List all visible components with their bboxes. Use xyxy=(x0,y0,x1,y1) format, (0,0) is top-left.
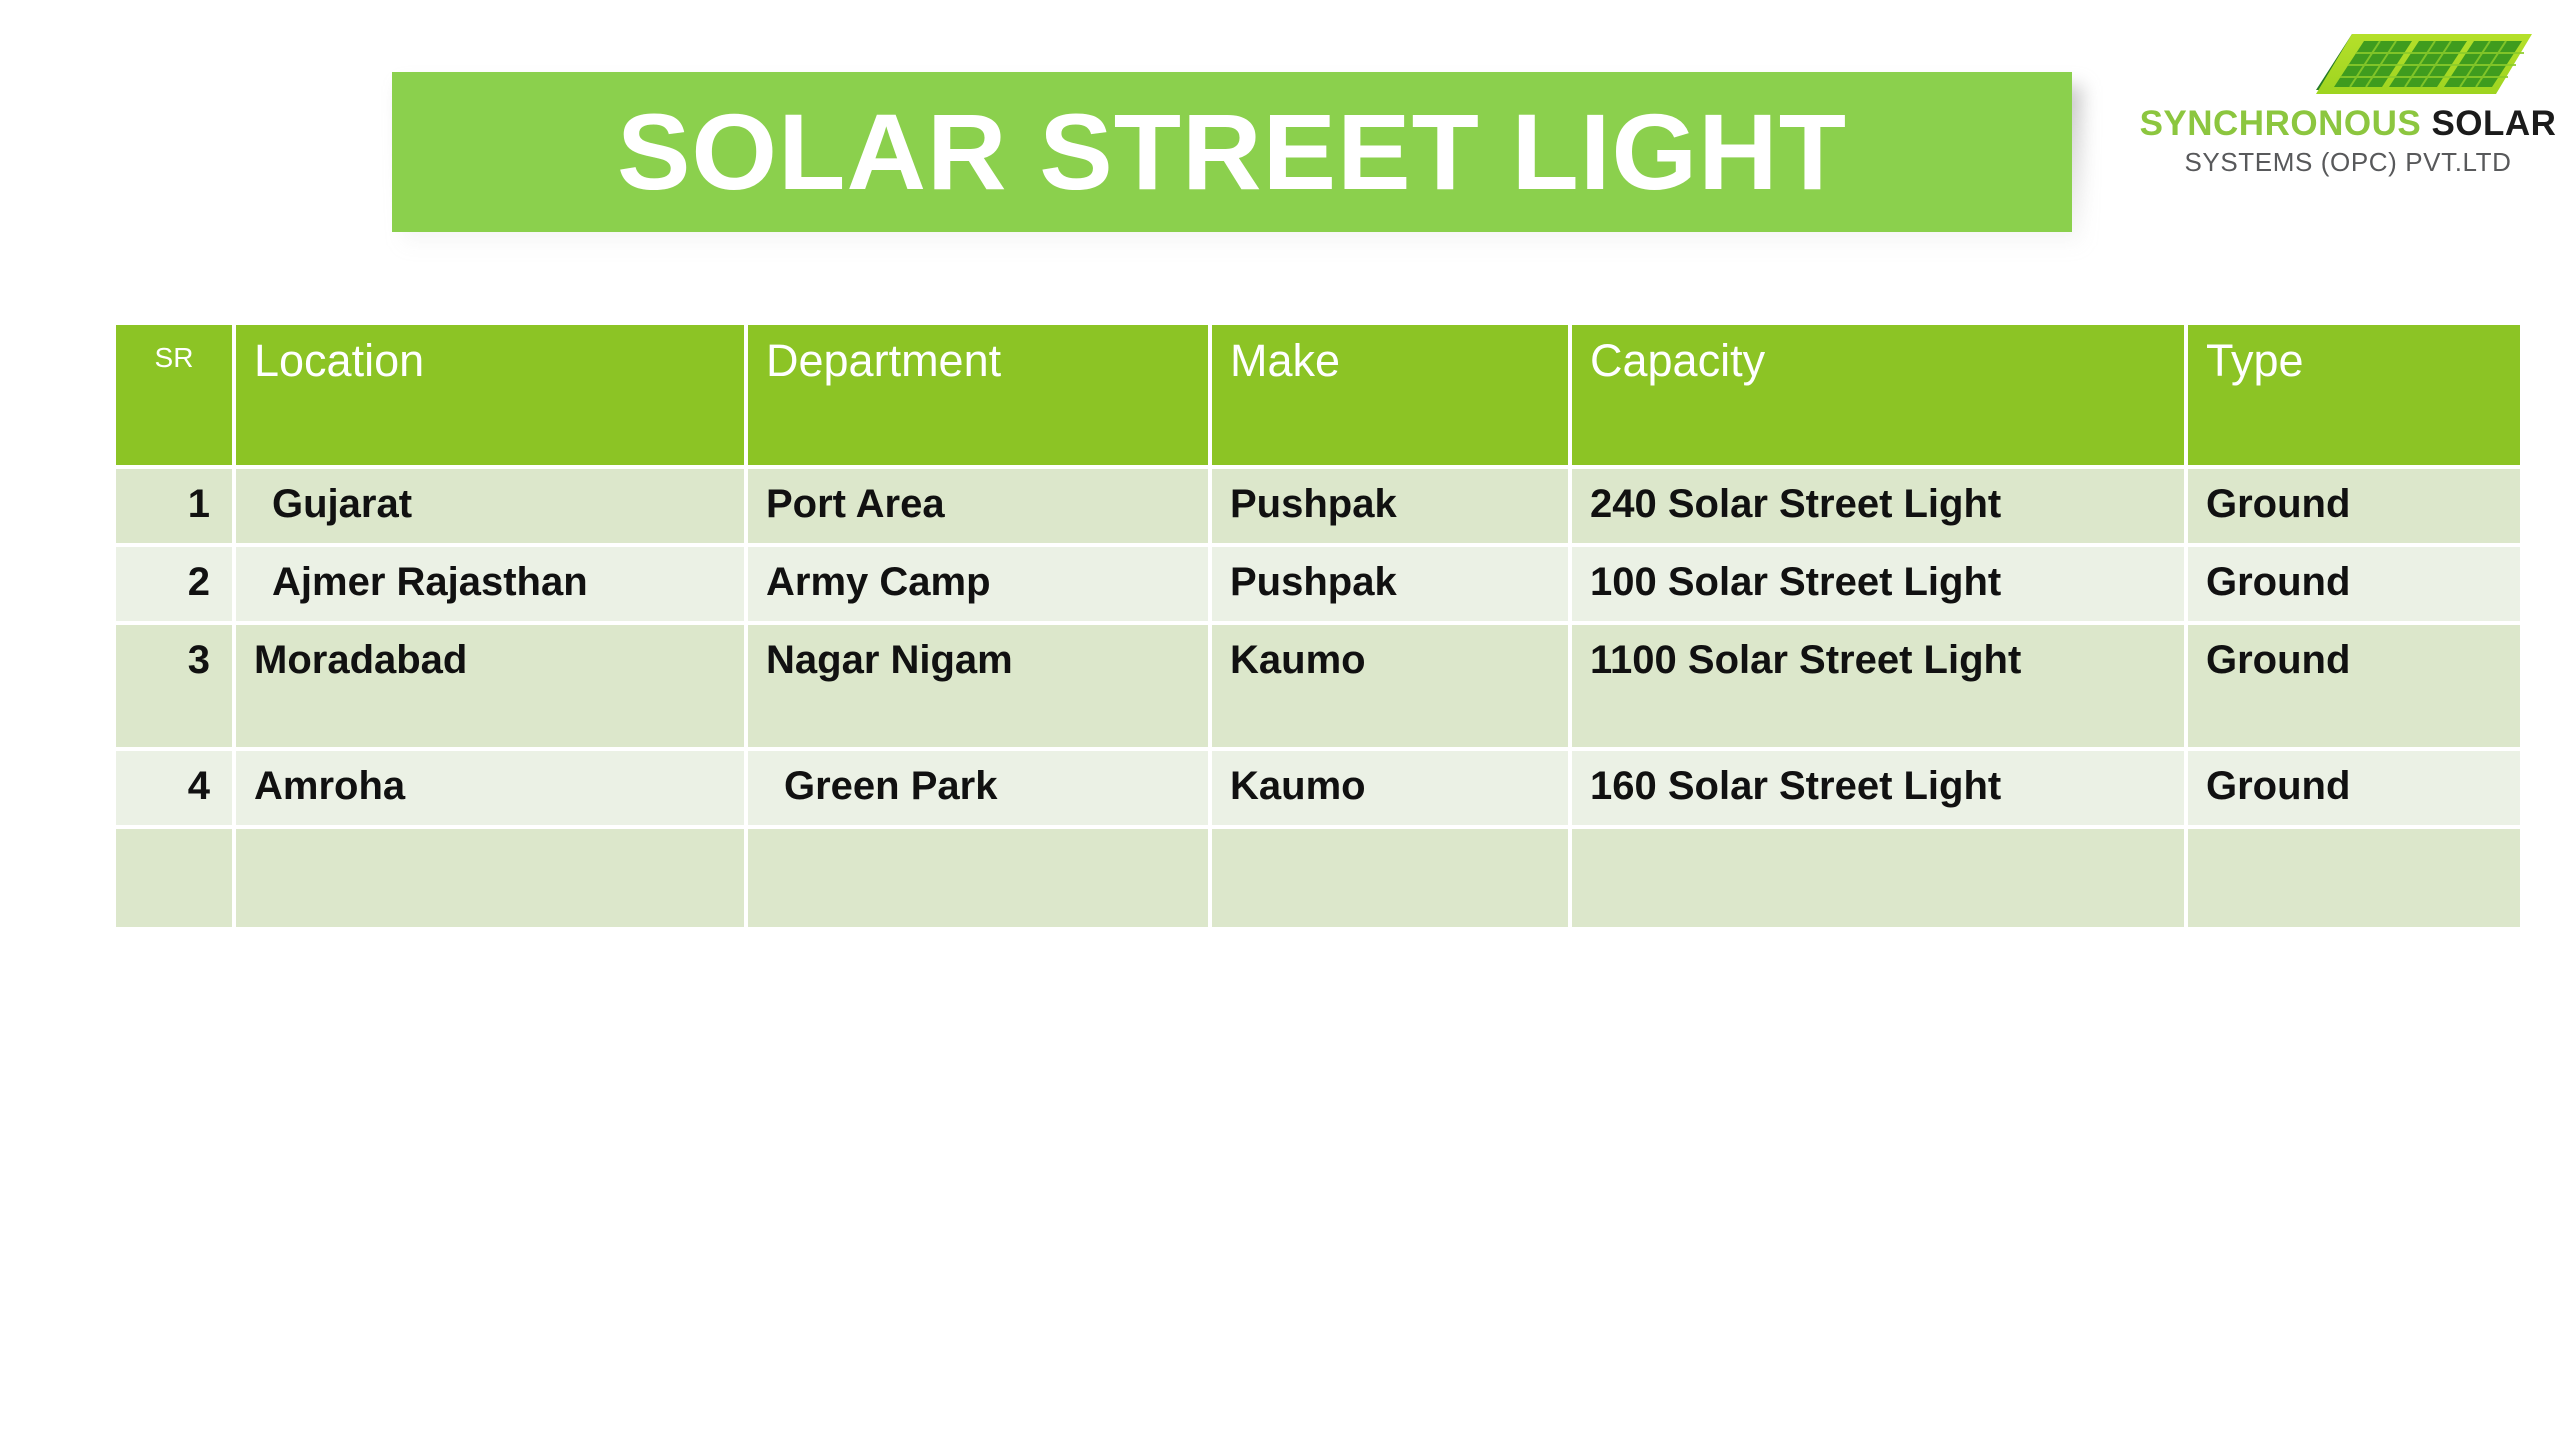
cell-capacity-text: 100 Solar Street Light xyxy=(1572,547,2184,603)
column-header-make: Make xyxy=(1212,325,1572,469)
cell-sr: 4 xyxy=(116,751,236,829)
cell-make-text: Kaumo xyxy=(1212,751,1568,807)
logo-name-solar: SOLAR xyxy=(2431,104,2556,143)
cell-location-text: Amroha xyxy=(236,751,744,807)
cell-department-text: Army Camp xyxy=(748,547,1208,603)
cell-capacity: 1100 Solar Street Light xyxy=(1572,625,2188,751)
cell-make-text xyxy=(1212,829,1568,843)
cell-department-text: Port Area xyxy=(748,469,1208,525)
cell-department: Army Camp xyxy=(748,547,1212,625)
cell-make-text: Pushpak xyxy=(1212,547,1568,603)
page-title: SOLAR STREET LIGHT xyxy=(617,98,1847,206)
table-row: 3 Moradabad Nagar Nigam Kaumo 1100 Solar… xyxy=(116,625,2520,751)
column-header-location-label: Location xyxy=(236,325,744,384)
cell-make: Pushpak xyxy=(1212,469,1572,547)
title-banner-group: SOLAR STREET LIGHT xyxy=(392,72,2072,232)
cell-department xyxy=(748,829,1212,927)
cell-capacity: 240 Solar Street Light xyxy=(1572,469,2188,547)
cell-type-text: Ground xyxy=(2188,547,2520,603)
cell-capacity-text: 1100 Solar Street Light xyxy=(1572,625,2184,681)
table-row: 1 Gujarat Port Area Pushpak 240 Solar St… xyxy=(116,469,2520,547)
cell-capacity xyxy=(1572,829,2188,927)
cell-type-text: Ground xyxy=(2188,625,2520,681)
cell-type: Ground xyxy=(2188,751,2520,829)
cell-type: Ground xyxy=(2188,469,2520,547)
column-header-make-label: Make xyxy=(1212,325,1568,384)
cell-location: Gujarat xyxy=(236,469,748,547)
cell-department-text: Green Park xyxy=(748,751,1208,807)
cell-type: Ground xyxy=(2188,625,2520,751)
column-header-type-label: Type xyxy=(2188,325,2520,384)
cell-type-text: Ground xyxy=(2188,751,2520,807)
column-header-sr: SR xyxy=(116,325,236,469)
solar-street-light-table: SR Location Department Make Capacity Typ… xyxy=(116,325,2520,927)
cell-location-text: Moradabad xyxy=(236,625,744,681)
column-header-department: Department xyxy=(748,325,1212,469)
cell-capacity-text: 240 Solar Street Light xyxy=(1572,469,2184,525)
cell-department: Green Park xyxy=(748,751,1212,829)
cell-make-text: Kaumo xyxy=(1212,625,1568,681)
cell-sr-text: 1 xyxy=(116,469,232,525)
cell-capacity-text xyxy=(1572,829,2184,843)
cell-make: Pushpak xyxy=(1212,547,1572,625)
column-header-capacity: Capacity xyxy=(1572,325,2188,469)
cell-make: Kaumo xyxy=(1212,751,1572,829)
cell-location-text: Gujarat xyxy=(236,469,744,525)
cell-type xyxy=(2188,829,2520,927)
cell-sr xyxy=(116,829,236,927)
cell-make xyxy=(1212,829,1572,927)
cell-department: Port Area xyxy=(748,469,1212,547)
cell-location xyxy=(236,829,748,927)
solar-panel-logo-icon xyxy=(2276,28,2538,100)
column-header-capacity-label: Capacity xyxy=(1572,325,2184,384)
cell-sr: 2 xyxy=(116,547,236,625)
cell-type-text xyxy=(2188,829,2520,843)
cell-location: Ajmer Rajasthan xyxy=(236,547,748,625)
cell-sr: 3 xyxy=(116,625,236,751)
cell-location: Amroha xyxy=(236,751,748,829)
table-row: 2 Ajmer Rajasthan Army Camp Pushpak 100 … xyxy=(116,547,2520,625)
table-header: SR Location Department Make Capacity Typ… xyxy=(116,325,2520,469)
company-logo: SYNCHRONOUS SOLAR SYSTEMS (OPC) PVT.LTD xyxy=(2138,28,2558,178)
column-header-department-label: Department xyxy=(748,325,1208,384)
logo-company-name: SYNCHRONOUS SOLAR xyxy=(2138,104,2558,144)
cell-location: Moradabad xyxy=(236,625,748,751)
logo-subtitle: SYSTEMS (OPC) PVT.LTD xyxy=(2138,147,2558,178)
table-row: 4 Amroha Green Park Kaumo 160 Solar Stre… xyxy=(116,751,2520,829)
cell-capacity-text: 160 Solar Street Light xyxy=(1572,751,2184,807)
cell-location-text: Ajmer Rajasthan xyxy=(236,547,744,603)
cell-type: Ground xyxy=(2188,547,2520,625)
cell-sr-text: 3 xyxy=(116,625,232,681)
logo-name-synchronous: SYNCHRONOUS xyxy=(2140,104,2422,143)
cell-make-text: Pushpak xyxy=(1212,469,1568,525)
table-body: 1 Gujarat Port Area Pushpak 240 Solar St… xyxy=(116,469,2520,927)
cell-type-text: Ground xyxy=(2188,469,2520,525)
column-header-sr-label: SR xyxy=(116,325,232,372)
cell-make: Kaumo xyxy=(1212,625,1572,751)
table-header-row: SR Location Department Make Capacity Typ… xyxy=(116,325,2520,469)
cell-capacity: 100 Solar Street Light xyxy=(1572,547,2188,625)
cell-department-text xyxy=(748,829,1208,843)
cell-department-text: Nagar Nigam xyxy=(748,625,1208,681)
cell-sr-text: 2 xyxy=(116,547,232,603)
table-row-empty xyxy=(116,829,2520,927)
cell-department: Nagar Nigam xyxy=(748,625,1212,751)
cell-capacity: 160 Solar Street Light xyxy=(1572,751,2188,829)
column-header-location: Location xyxy=(236,325,748,469)
cell-sr-text: 4 xyxy=(116,751,232,807)
title-banner: SOLAR STREET LIGHT xyxy=(392,72,2072,232)
cell-location-text xyxy=(236,829,744,843)
cell-sr-text xyxy=(116,829,232,843)
cell-sr: 1 xyxy=(116,469,236,547)
column-header-type: Type xyxy=(2188,325,2520,469)
